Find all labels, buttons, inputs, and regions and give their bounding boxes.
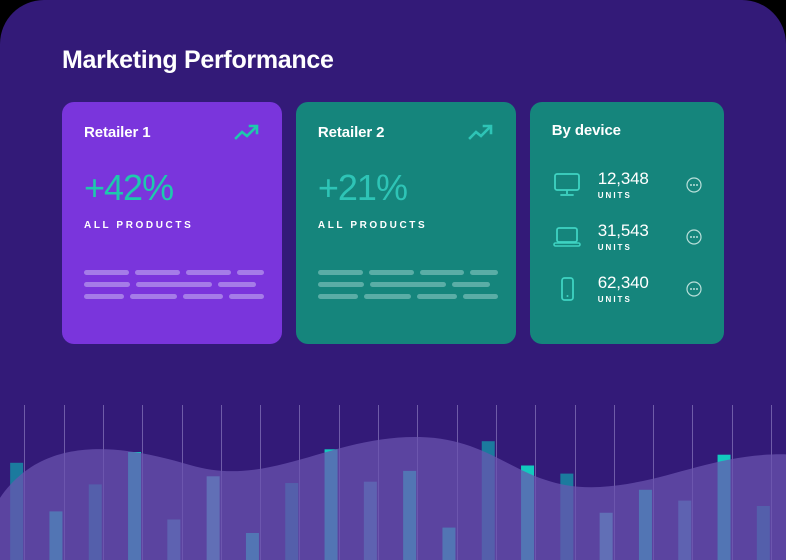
placeholder-segment (84, 294, 124, 299)
device-list: 12,348 UNITS (552, 159, 702, 315)
placeholder-line-row (318, 294, 498, 299)
card-title: Retailer 2 (318, 124, 385, 141)
placeholder-line-row (318, 282, 498, 287)
page-title: Marketing Performance (62, 46, 334, 75)
device-value: 12,348 (598, 170, 686, 188)
placeholder-lines (84, 270, 264, 306)
placeholder-segment (237, 270, 264, 275)
metric-value: +42% (84, 170, 260, 206)
placeholder-line-row (318, 270, 498, 275)
metric-label: ALL PRODUCTS (84, 220, 260, 231)
device-text: 31,543 UNITS (598, 222, 686, 252)
device-units: UNITS (598, 295, 686, 304)
placeholder-line-row (84, 294, 264, 299)
placeholder-segment (463, 294, 498, 299)
more-options-icon[interactable] (686, 177, 702, 193)
placeholder-segment (229, 294, 264, 299)
device-row-desktop[interactable]: 12,348 UNITS (552, 159, 702, 211)
placeholder-segment (364, 294, 411, 299)
mobile-phone-icon (552, 275, 582, 303)
placeholder-segment (135, 270, 180, 275)
trending-up-icon (468, 122, 494, 142)
card-by-device[interactable]: By device 12,348 UNITS (530, 102, 724, 344)
placeholder-lines (318, 270, 498, 306)
placeholder-segment (186, 270, 231, 275)
laptop-icon (552, 223, 582, 251)
kpi-cards-row: Retailer 1 +42% ALL PRODUCTS Retailer 2 … (62, 102, 724, 344)
placeholder-segment (370, 282, 446, 287)
device-row-laptop[interactable]: 31,543 UNITS (552, 211, 702, 263)
placeholder-segment (452, 282, 490, 287)
device-row-mobile[interactable]: 62,340 UNITS (552, 263, 702, 315)
device-units: UNITS (598, 191, 686, 200)
placeholder-segment (318, 270, 363, 275)
placeholder-segment (218, 282, 256, 287)
card-title: By device (552, 122, 702, 139)
placeholder-line-row (84, 270, 264, 275)
chart-wave-overlay (0, 437, 786, 560)
more-options-icon[interactable] (686, 229, 702, 245)
dashboard-panel: Marketing Performance Retailer 1 +42% AL… (0, 0, 786, 560)
placeholder-line-row (84, 282, 264, 287)
card-retailer-2[interactable]: Retailer 2 +21% ALL PRODUCTS (296, 102, 516, 344)
placeholder-segment (420, 270, 465, 275)
metric-label: ALL PRODUCTS (318, 220, 494, 231)
placeholder-segment (130, 294, 177, 299)
placeholder-segment (84, 270, 129, 275)
placeholder-segment (183, 294, 223, 299)
device-value: 31,543 (598, 222, 686, 240)
placeholder-segment (470, 270, 497, 275)
desktop-monitor-icon (552, 171, 582, 199)
trending-up-icon (234, 122, 260, 142)
placeholder-segment (136, 282, 212, 287)
placeholder-segment (318, 294, 358, 299)
device-text: 62,340 UNITS (598, 274, 686, 304)
device-text: 12,348 UNITS (598, 170, 686, 200)
placeholder-segment (318, 282, 364, 287)
card-header: Retailer 1 (84, 122, 260, 142)
placeholder-segment (417, 294, 457, 299)
placeholder-segment (84, 282, 130, 287)
card-title: Retailer 1 (84, 124, 151, 141)
device-value: 62,340 (598, 274, 686, 292)
placeholder-segment (369, 270, 414, 275)
metric-value: +21% (318, 170, 494, 206)
card-header: Retailer 2 (318, 122, 494, 142)
card-retailer-1[interactable]: Retailer 1 +42% ALL PRODUCTS (62, 102, 282, 344)
more-options-icon[interactable] (686, 281, 702, 297)
device-units: UNITS (598, 243, 686, 252)
bar-chart (0, 395, 786, 560)
